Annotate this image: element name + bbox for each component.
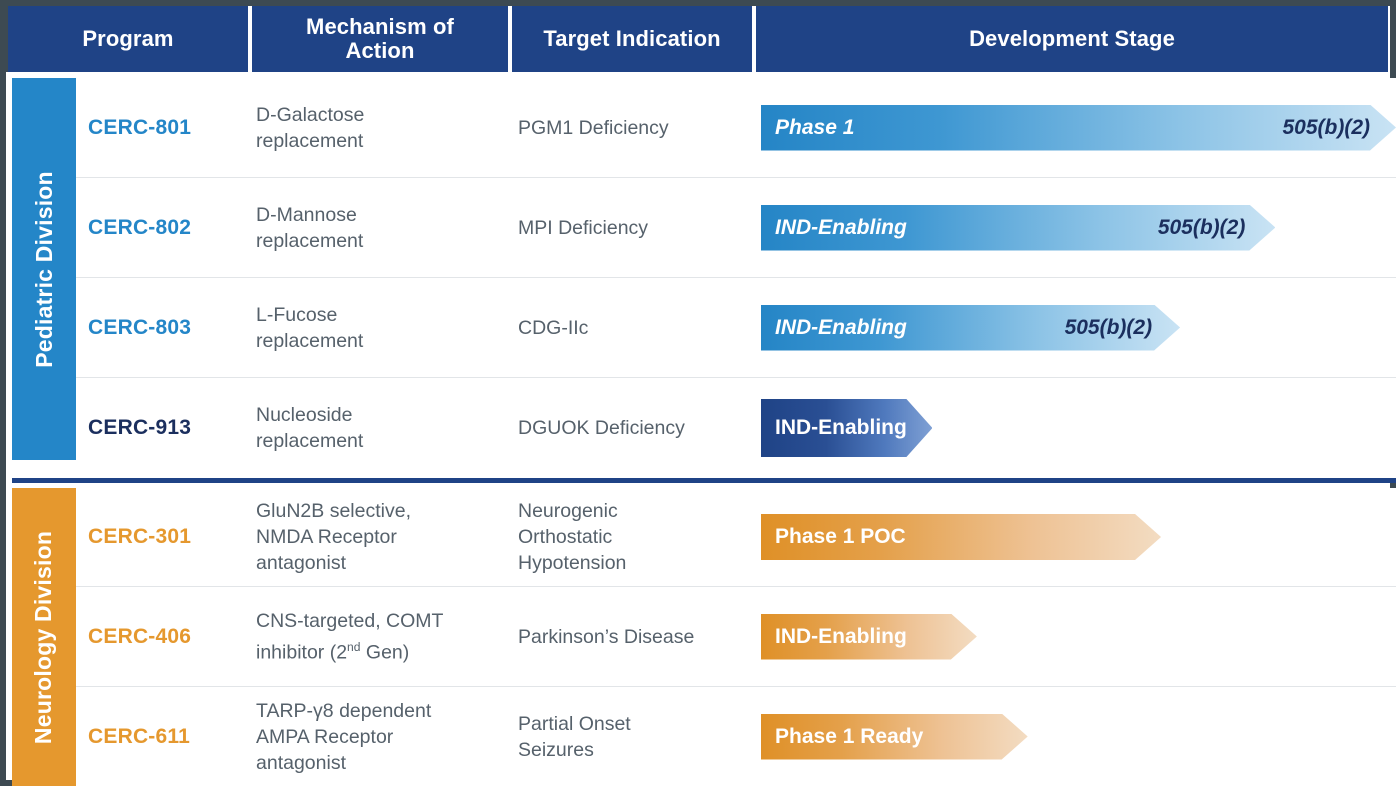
moa-line2: replacement [256, 330, 363, 352]
stage-arrow: IND-Enabling [761, 399, 932, 457]
mechanism-of-action: Nucleoside replacement [256, 402, 518, 454]
moa-line2: AMPA Receptor [256, 726, 393, 748]
division-gap [76, 478, 1396, 488]
stage-label: Phase 1 [761, 116, 854, 140]
stage-note: 505(b)(2) [1065, 316, 1153, 340]
indication-line2: Seizures [518, 739, 594, 761]
division-rail-neurology: Neurology Division [12, 488, 76, 786]
moa-line3: antagonist [256, 552, 346, 574]
pipeline-rows: CERC-801 D-Galactose replacement PGM1 De… [76, 78, 1396, 786]
table-row: CERC-406 CNS-targeted, COMT inhibitor (2… [76, 587, 1396, 687]
indication-line1: Neurogenic [518, 500, 618, 522]
moa-line2-pre: inhibitor (2 [256, 641, 347, 663]
stage-label: Phase 1 POC [761, 525, 906, 549]
mechanism-of-action: L-Fucose replacement [256, 302, 518, 354]
development-stage-cell: IND-Enabling 505(b)(2) [761, 278, 1396, 377]
program-name: CERC-406 [76, 625, 256, 649]
mechanism-of-action: GluN2B selective, NMDA Receptor antagoni… [256, 498, 518, 576]
division-rail-pediatric: Pediatric Division [12, 78, 76, 460]
division-label-pediatric: Pediatric Division [31, 171, 58, 368]
table-row: CERC-611 TARP-γ8 dependent AMPA Receptor… [76, 687, 1396, 786]
development-stage-cell: IND-Enabling [761, 378, 1396, 478]
program-name: CERC-611 [76, 725, 256, 749]
column-header-mechanism-of-action: Mechanism of Action [252, 6, 508, 72]
indication-line1: Partial Onset [518, 713, 631, 735]
column-header-target-indication: Target Indication [512, 6, 752, 72]
target-indication: Parkinson’s Disease [518, 624, 761, 650]
stage-arrow: Phase 1 Ready [761, 714, 1028, 760]
target-indication: Neurogenic Orthostatic Hypotension [518, 498, 761, 576]
program-name: CERC-803 [76, 316, 256, 340]
stage-arrow: IND-Enabling 505(b)(2) [761, 205, 1275, 251]
program-name: CERC-801 [76, 116, 256, 140]
stage-note: 505(b)(2) [1282, 116, 1370, 140]
moa-line1: D-Mannose [256, 204, 357, 226]
moa-line2-superscript: nd [347, 640, 360, 654]
stage-label: IND-Enabling [761, 416, 907, 440]
table-row: CERC-802 D-Mannose replacement MPI Defic… [76, 178, 1396, 278]
moa-line1: D-Galactose [256, 104, 364, 126]
pipeline-chart: Program Mechanism of Action Target Indic… [0, 0, 1396, 786]
development-stage-cell: Phase 1 Ready [761, 687, 1396, 786]
table-row: CERC-801 D-Galactose replacement PGM1 De… [76, 78, 1396, 178]
table-row: CERC-913 Nucleoside replacement DGUOK De… [76, 378, 1396, 478]
table-row: CERC-301 GluN2B selective, NMDA Receptor… [76, 488, 1396, 587]
indication-line3: Hypotension [518, 552, 626, 574]
stage-label: IND-Enabling [761, 216, 907, 240]
table-header-row: Program Mechanism of Action Target Indic… [6, 6, 1390, 72]
stage-label: Phase 1 Ready [761, 725, 923, 749]
moa-header-line1: Mechanism of [306, 14, 454, 39]
moa-line2: replacement [256, 430, 363, 452]
moa-header-line2: Action [345, 38, 414, 63]
moa-line2: replacement [256, 230, 363, 252]
target-indication: DGUOK Deficiency [518, 415, 761, 441]
moa-line3: antagonist [256, 752, 346, 774]
mechanism-of-action: D-Mannose replacement [256, 202, 518, 254]
moa-line1: Nucleoside [256, 404, 352, 426]
target-indication: CDG-IIc [518, 315, 761, 341]
stage-arrow: IND-Enabling 505(b)(2) [761, 305, 1180, 351]
moa-line1: TARP-γ8 dependent [256, 700, 431, 722]
moa-line1: CNS-targeted, COMT [256, 610, 443, 632]
mechanism-of-action: TARP-γ8 dependent AMPA Receptor antagoni… [256, 698, 518, 776]
mechanism-of-action: CNS-targeted, COMT inhibitor (2nd Gen) [256, 608, 518, 666]
development-stage-cell: Phase 1 505(b)(2) [761, 78, 1396, 177]
moa-line1: GluN2B selective, [256, 500, 411, 522]
column-header-program: Program [8, 6, 248, 72]
development-stage-cell: IND-Enabling 505(b)(2) [761, 178, 1396, 277]
stage-label: IND-Enabling [761, 625, 907, 649]
program-name: CERC-301 [76, 525, 256, 549]
stage-arrow: Phase 1 POC [761, 514, 1161, 560]
indication-line2: Orthostatic [518, 526, 612, 548]
moa-line1: L-Fucose [256, 304, 337, 326]
stage-arrow: IND-Enabling [761, 614, 977, 660]
moa-line2: NMDA Receptor [256, 526, 397, 548]
development-stage-cell: Phase 1 POC [761, 488, 1396, 586]
stage-label: IND-Enabling [761, 316, 907, 340]
table-row: CERC-803 L-Fucose replacement CDG-IIc IN… [76, 278, 1396, 378]
moa-line2: replacement [256, 130, 363, 152]
program-name: CERC-913 [76, 416, 256, 440]
stage-note: 505(b)(2) [1158, 216, 1246, 240]
target-indication: PGM1 Deficiency [518, 115, 761, 141]
target-indication: Partial Onset Seizures [518, 711, 761, 763]
target-indication: MPI Deficiency [518, 215, 761, 241]
mechanism-of-action: D-Galactose replacement [256, 102, 518, 154]
division-label-neurology: Neurology Division [31, 530, 58, 743]
program-name: CERC-802 [76, 216, 256, 240]
column-header-development-stage: Development Stage [756, 6, 1388, 72]
moa-line2-post: Gen) [360, 641, 409, 663]
stage-arrow: Phase 1 505(b)(2) [761, 105, 1396, 151]
development-stage-cell: IND-Enabling [761, 587, 1396, 686]
